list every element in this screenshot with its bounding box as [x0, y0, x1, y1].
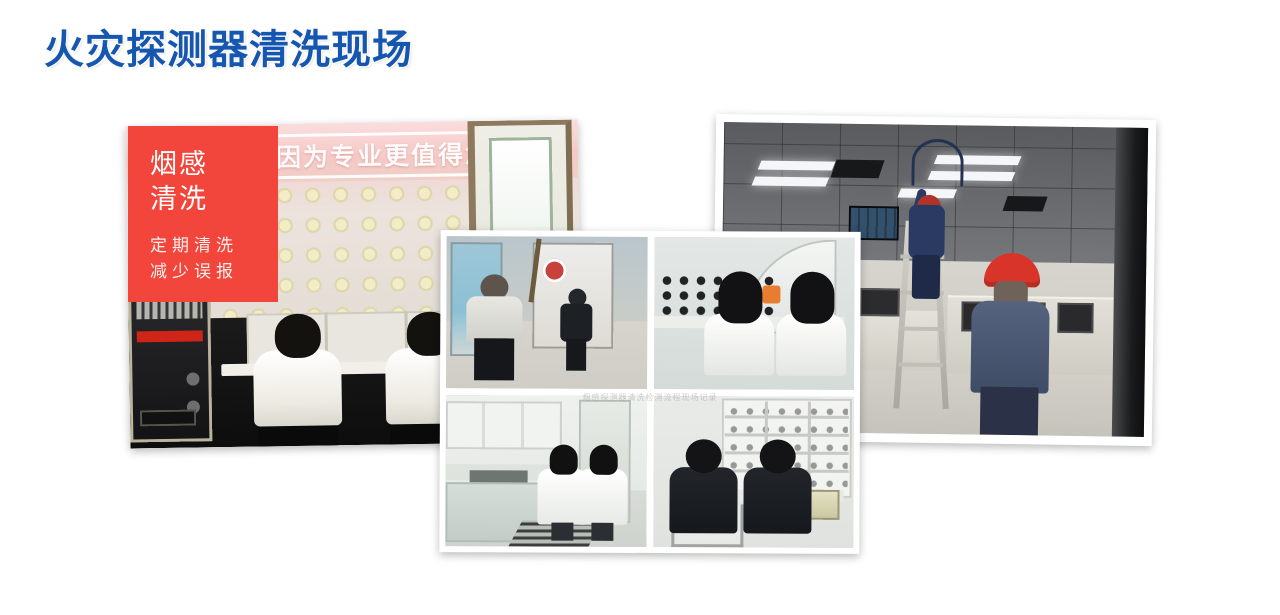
head: [590, 445, 618, 475]
storage-shelf-testing-photo: [653, 396, 854, 548]
technician-figure: [774, 271, 849, 389]
shelf-row: [724, 434, 848, 438]
corridor-inspection-photo: [446, 236, 647, 388]
console-monitor: [1057, 303, 1093, 333]
fire-alarm-control-panel: [128, 280, 213, 443]
work-jacket: [970, 301, 1049, 394]
technician-figure: [248, 313, 346, 446]
lab-sink-cleaning-photo: [445, 395, 646, 547]
worker-on-ladder: [906, 177, 948, 288]
ceiling-light: [758, 161, 836, 171]
supervisor-with-red-helmet: [970, 253, 1051, 436]
ceiling-vent: [1003, 196, 1048, 211]
technician-figure: [702, 271, 777, 389]
head: [759, 439, 795, 473]
head: [718, 271, 762, 323]
head: [274, 314, 321, 359]
inspector-figure: [466, 274, 522, 380]
shelf-row: [725, 416, 849, 420]
promo-headline-line1: 烟感: [150, 148, 278, 183]
promo-subtext-line2: 减少误报: [150, 259, 278, 285]
ladder-rung: [899, 363, 943, 368]
technician-figure: [577, 445, 627, 541]
head: [790, 271, 834, 323]
seated-worker-figure: [741, 439, 813, 547]
legs: [912, 255, 941, 299]
ceiling-vent: [830, 160, 884, 179]
panel-display: [140, 409, 196, 426]
legs: [566, 338, 586, 370]
promo-subtext: 定期清洗 减少误报: [150, 233, 278, 286]
worker-figure: [558, 288, 594, 370]
cleaning-workflow-grid: [439, 230, 860, 554]
legs: [591, 523, 613, 541]
ceiling-light: [751, 176, 829, 186]
ladder-rung: [899, 327, 943, 332]
dark-door-frame: [1112, 128, 1148, 437]
promo-headline: 烟感 清洗: [150, 148, 278, 217]
head: [685, 439, 721, 473]
work-uniform: [908, 205, 945, 259]
head: [550, 445, 578, 475]
desk-monitor: [859, 288, 899, 317]
wall-cabinets: [446, 401, 562, 450]
legs: [551, 523, 573, 541]
shirt: [466, 296, 522, 342]
uniform: [743, 467, 811, 533]
lab-coat: [253, 349, 342, 426]
alarm-strip: [137, 330, 203, 342]
trousers: [980, 387, 1039, 436]
uniform: [669, 467, 737, 533]
lab-coat: [577, 469, 627, 525]
page-title: 火灾探测器清洗现场: [44, 28, 413, 72]
trousers: [474, 338, 514, 380]
uniform: [560, 303, 592, 341]
calibration-bench-photo: [654, 237, 855, 389]
promo-badge: 烟感 清洗 定期清洗 减少误报: [128, 126, 278, 302]
promo-subtext-line1: 定期清洗: [150, 233, 278, 259]
panel-knob: [186, 372, 199, 385]
wall-emblem: [542, 259, 566, 283]
seated-worker-figure: [667, 439, 739, 547]
promo-headline-line2: 清洗: [150, 183, 278, 218]
